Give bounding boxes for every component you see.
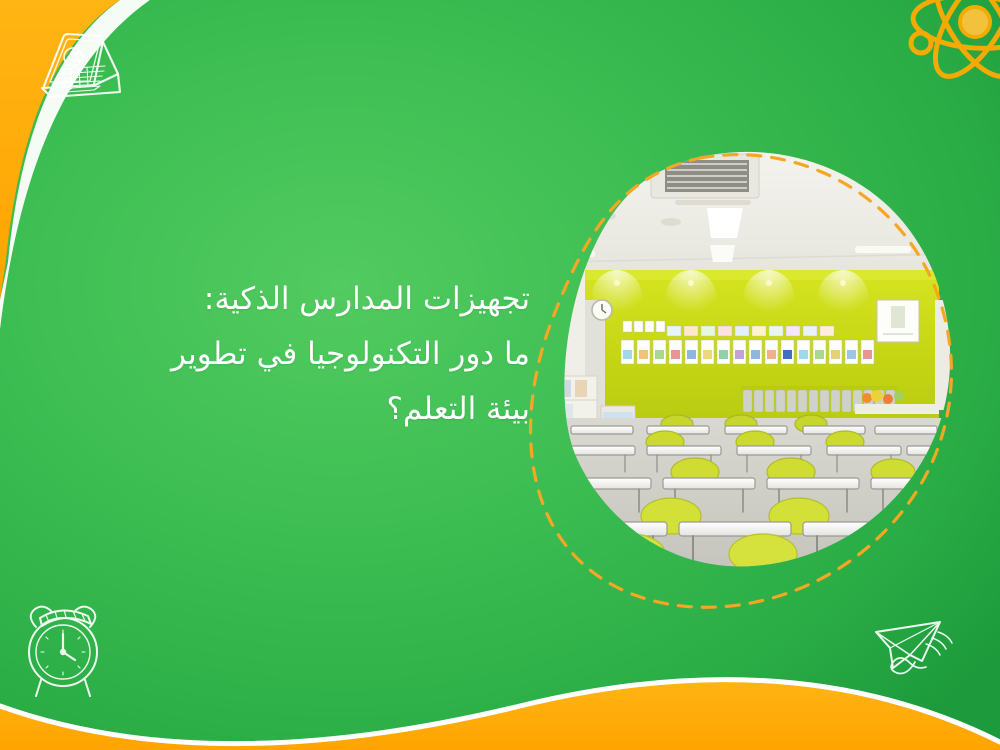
classroom-photo: [555, 150, 955, 570]
classroom-illustration: [555, 150, 955, 570]
headline-line-1: تجهيزات المدارس الذكية:: [40, 272, 530, 327]
poster-banner: تجهيزات المدارس الذكية: ما دور التكنولوج…: [0, 0, 1000, 750]
headline: تجهيزات المدارس الذكية: ما دور التكنولوج…: [40, 272, 530, 438]
wall-notice-frame: [877, 300, 919, 342]
headline-line-3: بيئة التعلم؟: [40, 382, 530, 437]
classroom-photo-frame: [555, 150, 955, 570]
ceiling-air-conditioner: [651, 154, 759, 205]
wall-clock: [592, 300, 612, 320]
headline-line-2: ما دور التكنولوجيا في تطوير: [40, 327, 530, 382]
